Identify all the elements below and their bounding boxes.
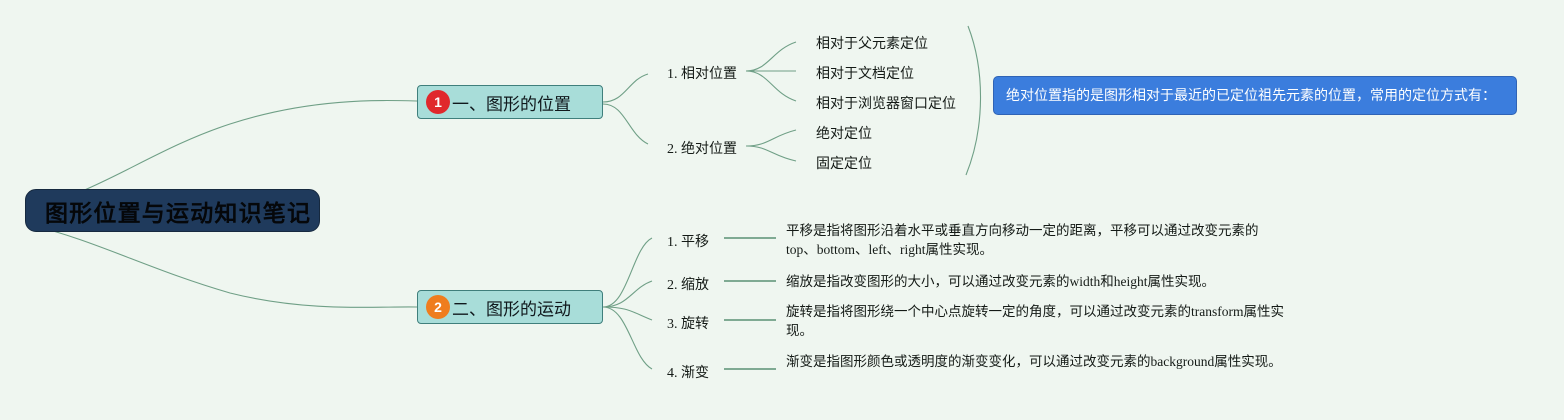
root-node-label: 图形位置与运动知识笔记 bbox=[45, 194, 311, 228]
branch-label-1: 一、图形的位置 bbox=[452, 90, 571, 115]
sub-node-absolute-position[interactable]: 2. 绝对位置 bbox=[667, 138, 737, 158]
description-scale: 缩放是指改变图形的大小，可以通过改变元素的width和height属性实现。 bbox=[786, 272, 1286, 291]
wire-s2-leaf-2 bbox=[746, 146, 796, 161]
branch-badge-1: 1 bbox=[426, 90, 450, 114]
sub-node-rotate[interactable]: 3. 旋转 bbox=[667, 313, 709, 333]
wire-s2-leaf-1 bbox=[746, 130, 796, 146]
branch-node-2[interactable]: 2 二、图形的运动 bbox=[417, 290, 603, 324]
root-node[interactable]: 图形位置与运动知识笔记 bbox=[25, 189, 320, 232]
branch-badge-2: 2 bbox=[426, 295, 450, 319]
leaf-fixed-positioning[interactable]: 固定定位 bbox=[816, 153, 872, 173]
wire-b2-sub-3 bbox=[603, 307, 652, 320]
branch-label-2: 二、图形的运动 bbox=[452, 295, 571, 320]
leaf-absolute-positioning[interactable]: 绝对定位 bbox=[816, 123, 872, 143]
branch-node-1[interactable]: 1 一、图形的位置 bbox=[417, 85, 603, 119]
description-gradient: 渐变是指图形颜色或透明度的渐变变化，可以通过改变元素的background属性实… bbox=[786, 352, 1286, 371]
sub-node-relative-position[interactable]: 1. 相对位置 bbox=[667, 63, 737, 83]
wire-b1-sub-1 bbox=[603, 74, 648, 102]
description-translate: 平移是指将图形沿着水平或垂直方向移动一定的距离，平移可以通过改变元素的top、b… bbox=[786, 221, 1286, 259]
mindmap-canvas: 图形位置与运动知识笔记 1 一、图形的位置 1. 相对位置 2. 绝对位置 相对… bbox=[0, 0, 1564, 420]
wire-callout-bracket bbox=[966, 26, 981, 175]
leaf-relative-to-parent[interactable]: 相对于父元素定位 bbox=[816, 33, 928, 53]
leaf-relative-to-document[interactable]: 相对于文档定位 bbox=[816, 63, 914, 83]
sub-node-translate[interactable]: 1. 平移 bbox=[667, 231, 709, 251]
wire-b1-sub-2 bbox=[603, 104, 648, 144]
wire-root-to-branch-2 bbox=[27, 224, 417, 307]
wire-b2-sub-4 bbox=[603, 307, 652, 369]
sub-node-scale[interactable]: 2. 缩放 bbox=[667, 274, 709, 294]
sub-node-gradient[interactable]: 4. 渐变 bbox=[667, 362, 709, 382]
wire-s1-leaf-1 bbox=[746, 42, 796, 71]
description-rotate: 旋转是指将图形绕一个中心点旋转一定的角度，可以通过改变元素的transform属… bbox=[786, 302, 1286, 340]
callout-box[interactable]: 绝对位置指的是图形相对于最近的已定位祖先元素的位置，常用的定位方式有： bbox=[993, 76, 1517, 115]
wire-s1-leaf-3 bbox=[746, 71, 796, 101]
wire-b2-sub-1 bbox=[603, 238, 652, 307]
leaf-relative-to-viewport[interactable]: 相对于浏览器窗口定位 bbox=[816, 93, 956, 113]
callout-text: 绝对位置指的是图形相对于最近的已定位祖先元素的位置，常用的定位方式有： bbox=[1006, 87, 1496, 103]
wire-b2-sub-2 bbox=[603, 281, 652, 307]
